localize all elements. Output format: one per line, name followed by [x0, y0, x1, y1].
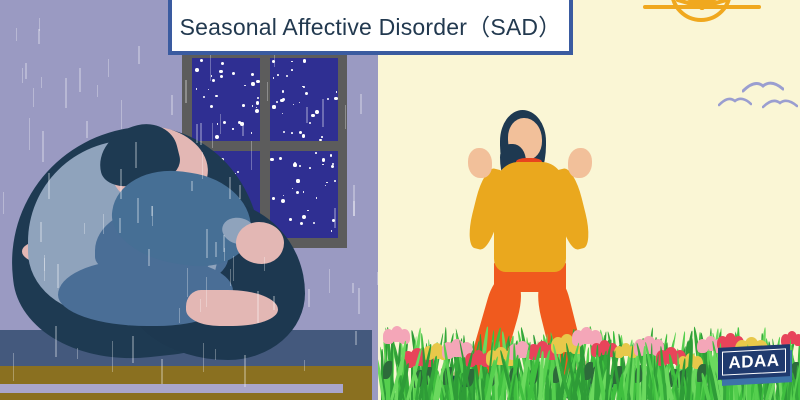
- rain-drop: [41, 77, 43, 88]
- rain-drop: [40, 222, 42, 242]
- bird-icon-2: [718, 94, 752, 108]
- rain-drop: [206, 229, 208, 258]
- rain-drop: [212, 123, 214, 148]
- grass-blade-front: [463, 357, 466, 400]
- rain-drop: [334, 208, 336, 228]
- rain-drop: [185, 80, 187, 103]
- rain-drop: [215, 242, 217, 258]
- rain-drop: [191, 181, 193, 192]
- rain-drop: [55, 326, 57, 357]
- rain-drop: [120, 169, 122, 199]
- rain-drop: [171, 95, 173, 115]
- rain-drop: [358, 288, 360, 314]
- rain-drop: [137, 198, 139, 223]
- title-banner: Seasonal Affective Disorder（SAD）: [168, 0, 573, 55]
- rain-drop: [135, 142, 137, 168]
- rain-drop: [353, 201, 355, 216]
- rain-drop: [119, 218, 121, 233]
- rain-drop: [148, 249, 150, 266]
- rain-drop: [79, 68, 81, 93]
- rain-drop: [179, 308, 181, 323]
- rain-drop: [25, 63, 27, 78]
- rain-drop: [65, 78, 67, 108]
- logo-box: ADAA: [718, 344, 790, 380]
- rain-drop: [161, 359, 163, 383]
- rain-drop: [220, 114, 222, 134]
- rain-drop: [48, 173, 50, 198]
- rain-drop: [84, 223, 86, 234]
- rain-drop: [44, 258, 46, 280]
- rain-drop: [257, 291, 259, 323]
- rain-drop: [304, 360, 306, 371]
- rain-drop: [329, 269, 331, 293]
- rain-drop: [308, 289, 310, 307]
- rain-drop: [242, 122, 244, 136]
- bird-icon-3: [762, 96, 798, 110]
- happy-fist-right: [568, 148, 592, 178]
- rain-drop: [210, 51, 212, 81]
- rain-drop: [29, 118, 31, 150]
- happy-fist-left: [468, 148, 492, 178]
- rain-drop: [121, 100, 123, 129]
- rain-drop: [108, 59, 110, 77]
- rain-drop: [22, 68, 24, 83]
- rain-drop: [196, 124, 198, 143]
- rain-drop: [42, 131, 44, 161]
- rain-drop: [187, 268, 189, 296]
- rain-drop: [267, 82, 269, 102]
- rain-drop: [77, 348, 79, 359]
- rain-drop: [355, 331, 357, 345]
- rain-drop: [200, 299, 202, 312]
- rain-drop: [138, 46, 140, 64]
- rain-drop: [151, 206, 153, 216]
- rain-drop: [239, 185, 241, 199]
- page-title: Seasonal Affective Disorder（SAD）: [180, 8, 562, 42]
- rain-drop: [38, 29, 40, 44]
- rain-drop: [251, 141, 253, 170]
- sun-ray-13: [699, 5, 761, 9]
- adaa-logo[interactable]: ADAA: [718, 346, 790, 380]
- rain-drop: [97, 85, 99, 97]
- rain-drop: [229, 177, 231, 199]
- rain-drop: [322, 99, 324, 127]
- rain-drop: [112, 341, 114, 371]
- rain-drop: [360, 94, 362, 114]
- rain-drop: [3, 192, 5, 214]
- rain-streaks: [0, 0, 378, 400]
- rain-drop: [233, 256, 235, 281]
- rain-drop: [230, 269, 232, 285]
- rain-drop: [345, 105, 347, 129]
- rain-drop: [57, 264, 59, 288]
- rain-drop: [202, 152, 204, 179]
- rain-drop: [352, 283, 354, 293]
- bird-icon-1: [742, 78, 784, 94]
- rain-drop: [206, 277, 208, 307]
- rain-drop: [244, 355, 246, 387]
- rain-drop: [33, 88, 35, 107]
- illustration-canvas: Seasonal Affective Disorder（SAD） ADAA: [0, 0, 800, 400]
- rain-drop: [16, 28, 18, 42]
- rain-drop: [215, 349, 217, 360]
- rain-drop: [203, 343, 205, 372]
- rain-drop: [13, 353, 15, 381]
- rain-drop: [86, 121, 88, 138]
- rain-drop: [264, 257, 266, 271]
- rain-drop: [132, 336, 134, 363]
- grass-blade-front: [545, 375, 549, 400]
- logo-inner-border: ADAA: [722, 348, 786, 375]
- rain-drop: [200, 123, 202, 145]
- rain-drop: [273, 296, 275, 310]
- logo-text: ADAA: [728, 351, 779, 374]
- rain-drop: [306, 107, 308, 123]
- rain-drop: [103, 214, 105, 235]
- rain-drop: [223, 235, 225, 251]
